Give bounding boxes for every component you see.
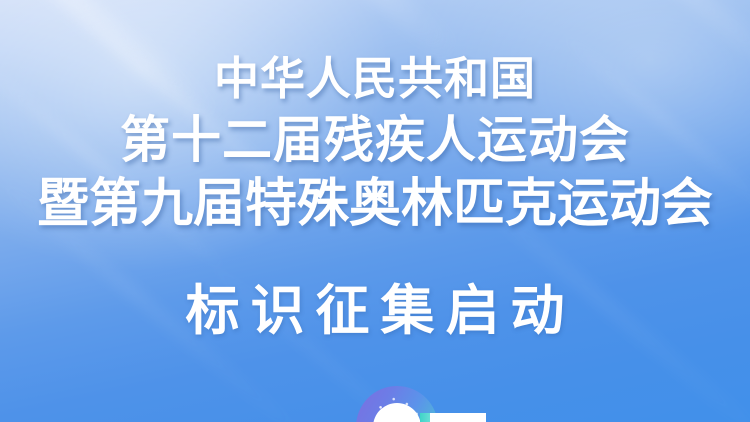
headline-line-3: 暨第九届特殊奥林匹克运动会 [0,179,750,231]
headline-block: 中华人民共和国 第十二届残疾人运动会 暨第九届特殊奥林匹克运动会 [0,57,750,231]
emblem-white-bar [430,413,486,422]
headline-line-2: 第十二届残疾人运动会 [0,115,750,165]
headline-line-1: 中华人民共和国 [0,57,750,102]
event-announcement-banner: 中华人民共和国 第十二届残疾人运动会 暨第九届特殊奥林匹克运动会 标识征集启动 [0,0,750,422]
subheadline-logo-call-for-entries: 标识征集启动 [0,283,750,340]
